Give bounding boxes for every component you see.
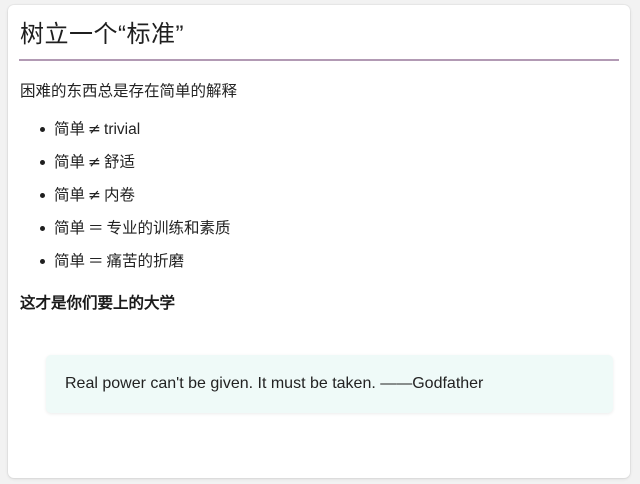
list-item-object: trivial: [104, 121, 140, 138]
quote-callout: Real power can't be given. It must be ta…: [46, 355, 613, 413]
bullet-list: 简单≠trivial 简单≠舒适 简单≠内卷 简单＝专业的训练和素质 简单＝痛苦…: [20, 117, 231, 282]
list-item-text: 简单≠trivial: [54, 121, 140, 138]
emphasis-statement: 这才是你们要上的大学: [20, 292, 175, 316]
bullet-dot-icon: [40, 226, 45, 231]
list-item-object: 痛苦的折磨: [107, 253, 185, 270]
list-item-subject: 简单: [54, 220, 85, 237]
list-item-text: 简单＝痛苦的折磨: [54, 253, 184, 270]
list-item-subject: 简单: [54, 154, 85, 171]
list-item: 简单＝痛苦的折磨: [20, 249, 231, 282]
list-item-text: 简单≠舒适: [54, 154, 135, 171]
bullet-dot-icon: [40, 160, 45, 165]
quote-text: Real power can't be given. It must be ta…: [65, 373, 483, 395]
list-item-operator: ＝: [85, 249, 107, 274]
list-item-subject: 简单: [54, 121, 85, 138]
list-item-object: 专业的训练和素质: [107, 220, 231, 237]
bullet-dot-icon: [40, 259, 45, 264]
list-item-operator: ≠: [85, 117, 104, 142]
page-title: 树立一个“标准”: [20, 18, 184, 52]
list-item-subject: 简单: [54, 187, 85, 204]
list-item-text: 简单≠内卷: [54, 187, 135, 204]
list-item-operator: ≠: [85, 183, 104, 208]
list-item: 简单≠内卷: [20, 183, 231, 216]
list-item-object: 内卷: [104, 187, 135, 204]
list-item-object: 舒适: [104, 154, 135, 171]
list-item-operator: ＝: [85, 216, 107, 241]
bullet-dot-icon: [40, 127, 45, 132]
list-item: 简单≠trivial: [20, 117, 231, 150]
list-item: 简单＝专业的训练和素质: [20, 216, 231, 249]
list-item-text: 简单＝专业的训练和素质: [54, 220, 231, 237]
lead-paragraph: 困难的东西总是存在简单的解释: [20, 81, 237, 103]
list-item-subject: 简单: [54, 253, 85, 270]
list-item-operator: ≠: [85, 150, 104, 175]
slide-card: 树立一个“标准” 困难的东西总是存在简单的解释 简单≠trivial 简单≠舒适…: [8, 5, 630, 478]
bullet-dot-icon: [40, 193, 45, 198]
list-item: 简单≠舒适: [20, 150, 231, 183]
title-divider: [19, 59, 619, 61]
